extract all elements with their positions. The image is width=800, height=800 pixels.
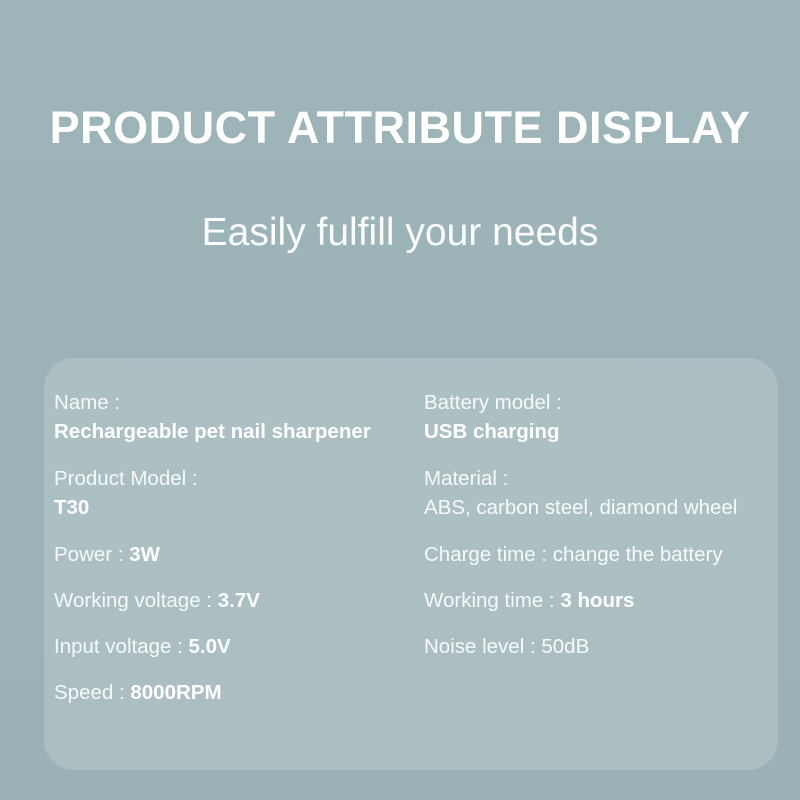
spec-row: Material :ABS, carbon steel, diamond whe…	[424, 464, 769, 522]
spec-value-text: USB charging	[424, 420, 560, 443]
spec-row: Working voltage : 3.7V	[54, 586, 424, 615]
spec-row: Power : 3W	[54, 540, 424, 569]
spec-label: Power :	[54, 543, 124, 566]
spec-value-text: 3W	[129, 543, 160, 566]
spec-row: Noise level : 50dB	[424, 632, 769, 661]
spec-column-left: Name :Rechargeable pet nail sharpenerPro…	[54, 388, 424, 724]
spec-column-right: Battery model :USB chargingMaterial :ABS…	[424, 388, 769, 678]
spec-value: USB charging	[424, 417, 769, 446]
spec-label: Charge time :	[424, 543, 547, 566]
spec-label: Name :	[54, 388, 424, 417]
spec-value-text: 8000RPM	[130, 681, 221, 704]
spec-value-text: 3.7V	[218, 589, 260, 612]
spec-row: Working time : 3 hours	[424, 586, 769, 615]
spec-value-text: Rechargeable pet nail sharpener	[54, 420, 371, 443]
spec-label: Noise level :	[424, 635, 536, 658]
spec-label: Working voltage :	[54, 589, 212, 612]
spec-value: T30	[54, 493, 424, 522]
spec-label: Battery model :	[424, 388, 769, 417]
spec-row: Charge time : change the battery	[424, 540, 769, 569]
spec-line: Input voltage : 5.0V	[54, 632, 424, 661]
spec-line: Speed : 8000RPM	[54, 678, 424, 707]
spec-row: Name :Rechargeable pet nail sharpener	[54, 388, 424, 446]
spec-label: Speed :	[54, 681, 125, 704]
spec-label: Working time :	[424, 589, 555, 612]
spec-label: Product Model :	[54, 464, 424, 493]
spec-row: Battery model :USB charging	[424, 388, 769, 446]
spec-line: Working time : 3 hours	[424, 586, 769, 615]
spec-value-text: ABS, carbon steel, diamond wheel	[424, 496, 737, 519]
spec-value-text: 3 hours	[560, 589, 634, 612]
spec-value: ABS, carbon steel, diamond wheel	[424, 493, 769, 522]
spec-row: Product Model :T30	[54, 464, 424, 522]
page-title: PRODUCT ATTRIBUTE DISPLAY	[0, 104, 800, 151]
spec-value-text: 5.0V	[189, 635, 231, 658]
page-subtitle: Easily fulfill your needs	[0, 212, 800, 255]
spec-value-text: 50dB	[541, 635, 589, 658]
spec-value-text: T30	[54, 496, 89, 519]
spec-line: Working voltage : 3.7V	[54, 586, 424, 615]
spec-line: Power : 3W	[54, 540, 424, 569]
spec-line: Noise level : 50dB	[424, 632, 769, 661]
spec-label: Input voltage :	[54, 635, 183, 658]
product-attribute-page: PRODUCT ATTRIBUTE DISPLAY Easily fulfill…	[0, 0, 800, 800]
spec-line: Charge time : change the battery	[424, 540, 769, 569]
spec-row: Speed : 8000RPM	[54, 678, 424, 707]
spec-label: Material :	[424, 464, 769, 493]
specification-panel: Name :Rechargeable pet nail sharpenerPro…	[44, 358, 778, 770]
spec-value-text: change the battery	[553, 543, 723, 566]
spec-row: Input voltage : 5.0V	[54, 632, 424, 661]
spec-value: Rechargeable pet nail sharpener	[54, 417, 424, 446]
